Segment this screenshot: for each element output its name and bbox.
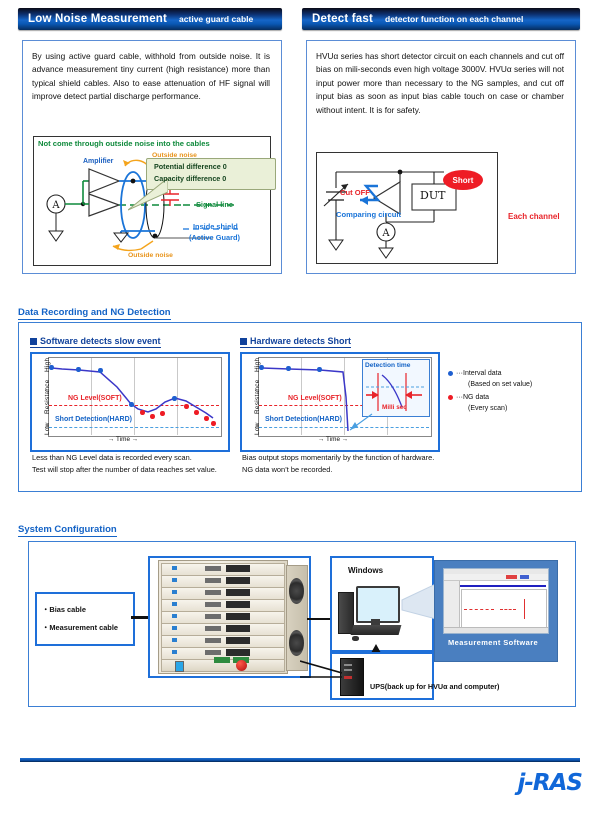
chart-right-title-text: Hardware detects Short [250, 336, 351, 346]
rack-slot-led [172, 566, 177, 570]
rack-fan-icon [289, 578, 304, 604]
cable-list-box [35, 592, 135, 646]
software-plot-spike [524, 599, 525, 619]
software-blue-bar [460, 585, 546, 587]
rack-slot-indicator [205, 614, 221, 619]
legend-ng-line1: ···NG data [456, 394, 489, 401]
brand-logo: j-RAS [517, 770, 582, 796]
header-detect-fast-title: Detect fast [312, 13, 373, 25]
chart-right-xlabel: → Time → [318, 436, 348, 443]
rack-slot-connector [226, 613, 250, 620]
software-statusbar [444, 627, 548, 634]
software-sidebar [444, 581, 460, 633]
legend-item: ···Interval data [448, 368, 532, 379]
legend-interval-line2: (Based on set value) [448, 379, 532, 390]
chart-right-interval-point [286, 366, 291, 371]
legend-interval-line1: ···Interval data [456, 370, 502, 377]
svg-text:A: A [51, 200, 60, 211]
diagram-signal-line-label: Signal line [196, 200, 233, 209]
chart-left-ng-label: NG Level(SOFT) [68, 395, 122, 402]
software-plot-trace [500, 609, 516, 610]
header-low-noise-subtitle: active guard cable [179, 14, 253, 24]
chart-left-interval-point [76, 367, 81, 372]
diagram-dut-label: DUT [420, 189, 445, 202]
diagram-outside-noise-bottom-label: Outside noise [128, 252, 173, 259]
cable-list-measurement: ・Measurement cable [42, 622, 118, 633]
ups-led [344, 669, 352, 671]
measurement-software-label: Measurement Software [448, 638, 538, 647]
legend-dot-interval-icon [448, 371, 453, 376]
rack-slot-connector [226, 625, 250, 632]
section-title-system-configuration: System Configuration [18, 524, 117, 537]
header-low-noise: Low Noise Measurement active guard cable [18, 8, 282, 30]
chart-left-ng-point [194, 410, 199, 415]
rack-slot-led [172, 638, 177, 642]
chart-left-interval-point [129, 402, 134, 407]
ups-led [344, 664, 352, 666]
rack-slot-indicator [205, 578, 221, 583]
chart-left-ylabel-high: High [44, 358, 51, 372]
measurement-software-screenshot [443, 568, 549, 634]
diagram-callout-line2: Capacity difference 0 [154, 174, 226, 183]
rack-slot-indicator [205, 638, 221, 643]
rack-slot-connector [226, 565, 250, 572]
chart-right-interval-point [317, 367, 322, 372]
chart-left-yaxis-arrow-down: ↑ [44, 425, 51, 429]
rack-slot-connector [226, 649, 250, 656]
ups-led-red [344, 676, 352, 679]
header-low-noise-title: Low Noise Measurement [28, 13, 167, 25]
header-detect-fast-subtitle: detector function on each channel [385, 14, 523, 24]
diagram-amplifier-label: Amplifier [83, 158, 113, 165]
pc-monitor [356, 586, 400, 623]
rack-slot-led [172, 626, 177, 630]
chart-left-ylabel-mid: Resistance [44, 379, 51, 414]
chart-left-ng-point [211, 421, 216, 426]
bullet-square-icon [30, 338, 37, 345]
svg-text:A: A [381, 228, 390, 239]
caption-right-line1: Bias output stops momentarily by the fun… [242, 452, 434, 464]
chart-right-short-label: Short Detection(HARD) [265, 416, 342, 423]
pc-keyboard [351, 625, 402, 635]
page-root: Low Noise Measurement active guard cable… [0, 0, 600, 823]
rack-emergency-stop-button [236, 660, 247, 671]
ups-label: UPS(back up for HVUα and computer) [370, 682, 499, 691]
pc-mouse [352, 636, 359, 641]
rack-slot-indicator [205, 566, 221, 571]
chart-right-ng-label: NG Level(SOFT) [288, 395, 342, 402]
chart-left-ng-point [150, 414, 155, 419]
chart-right-inset-unit: Milli sec [382, 404, 407, 411]
rack-slot-led [172, 578, 177, 582]
chart-legend: ···Interval data (Based on set value) ··… [448, 368, 532, 414]
software-toolbar-red-btn [506, 575, 517, 579]
rack-slot-led [172, 602, 177, 606]
chart-right-title: Hardware detects Short [240, 336, 351, 348]
connector-rack-to-ups [300, 655, 342, 685]
rack-slot-connector [226, 577, 250, 584]
software-plot-trace [464, 609, 494, 610]
chart-left-ng-point [160, 411, 165, 416]
chart-left-short-label: Short Detection(HARD) [55, 416, 132, 423]
rack-slot-connector [226, 589, 250, 596]
diagram-callout-line1: Potential difference 0 [154, 162, 227, 171]
rack-slot-connector [226, 637, 250, 644]
chart-left-title: Software detects slow event [30, 336, 161, 348]
software-toolbar [444, 574, 548, 581]
detect-fast-body-text: HVUα series has short detector circuit o… [316, 50, 564, 117]
chart-right-ylabel-high: High [254, 358, 261, 372]
caption-right-line2: NG data won’t be recorded. [242, 464, 332, 476]
cable-list-bias: ・Bias cable [42, 604, 86, 615]
chart-right-ylabel-mid: Resistance [254, 379, 261, 414]
header-detect-fast: Detect fast detector function on each ch… [302, 8, 580, 30]
rack-slot-indicator [205, 590, 221, 595]
software-toolbar-blue-btn [520, 575, 529, 579]
legend-ng-line2: (Every scan) [448, 403, 532, 414]
chart-left-title-text: Software detects slow event [40, 336, 161, 346]
diagram-comparing-circuit-label: Comparing circuit [336, 210, 401, 219]
chart-left-ng-point [204, 416, 209, 421]
legend-dot-ng-icon [448, 395, 453, 400]
chart-right-yaxis-arrow-up: ↑ [254, 388, 261, 392]
diagram-callout-tail [128, 178, 168, 212]
chart-right-yaxis-arrow-down: ↑ [254, 425, 261, 429]
chart-left-ng-point [184, 404, 189, 409]
rack-slot-indicator [205, 626, 221, 631]
diagram-inside-shield-label-line2: (Active Guard) [189, 233, 240, 242]
rack-slot-led [172, 650, 177, 654]
chart-left-interval-point [172, 396, 177, 401]
low-noise-body-text: By using active guard cable, withhold fr… [32, 50, 270, 104]
rack-slot-led [172, 614, 177, 618]
legend-item: ···NG data [448, 392, 532, 403]
rack-green-terminal [214, 657, 230, 663]
footer-rule [20, 758, 580, 762]
rack-power-switch [175, 661, 184, 672]
bullet-square-icon [240, 338, 247, 345]
diagram-short-badge: Short [443, 170, 483, 190]
rack-slot-indicator [205, 650, 221, 655]
caption-left-line1: Less than NG Level data is recorded ever… [32, 452, 192, 464]
windows-label: Windows [348, 566, 383, 575]
diagram-cut-off-label: Cut OFF [340, 188, 370, 197]
connector-rack-to-pc-h [307, 618, 331, 620]
rack-slot-led [172, 590, 177, 594]
caption-left-line2: Test will stop after the number of data … [32, 464, 217, 476]
rack-slot-connector [226, 601, 250, 608]
rack-slot-indicator [205, 602, 221, 607]
rack-fan-icon [289, 630, 304, 656]
chart-left-xlabel: → Time → [108, 436, 138, 443]
chart-right-inset-pointer [348, 412, 374, 432]
chart-left-yaxis-arrow-up: ↑ [44, 388, 51, 392]
chart-left-interval-point [98, 368, 103, 373]
chart-left-ng-point [140, 410, 145, 415]
diagram-each-channel-label: Each channel [508, 212, 560, 221]
diagram-inside-shield-label-line1: Inside shield [193, 222, 238, 231]
diagram-short-detector-svg: A [316, 152, 496, 262]
section-title-data-recording: Data Recording and NG Detection [18, 307, 171, 320]
